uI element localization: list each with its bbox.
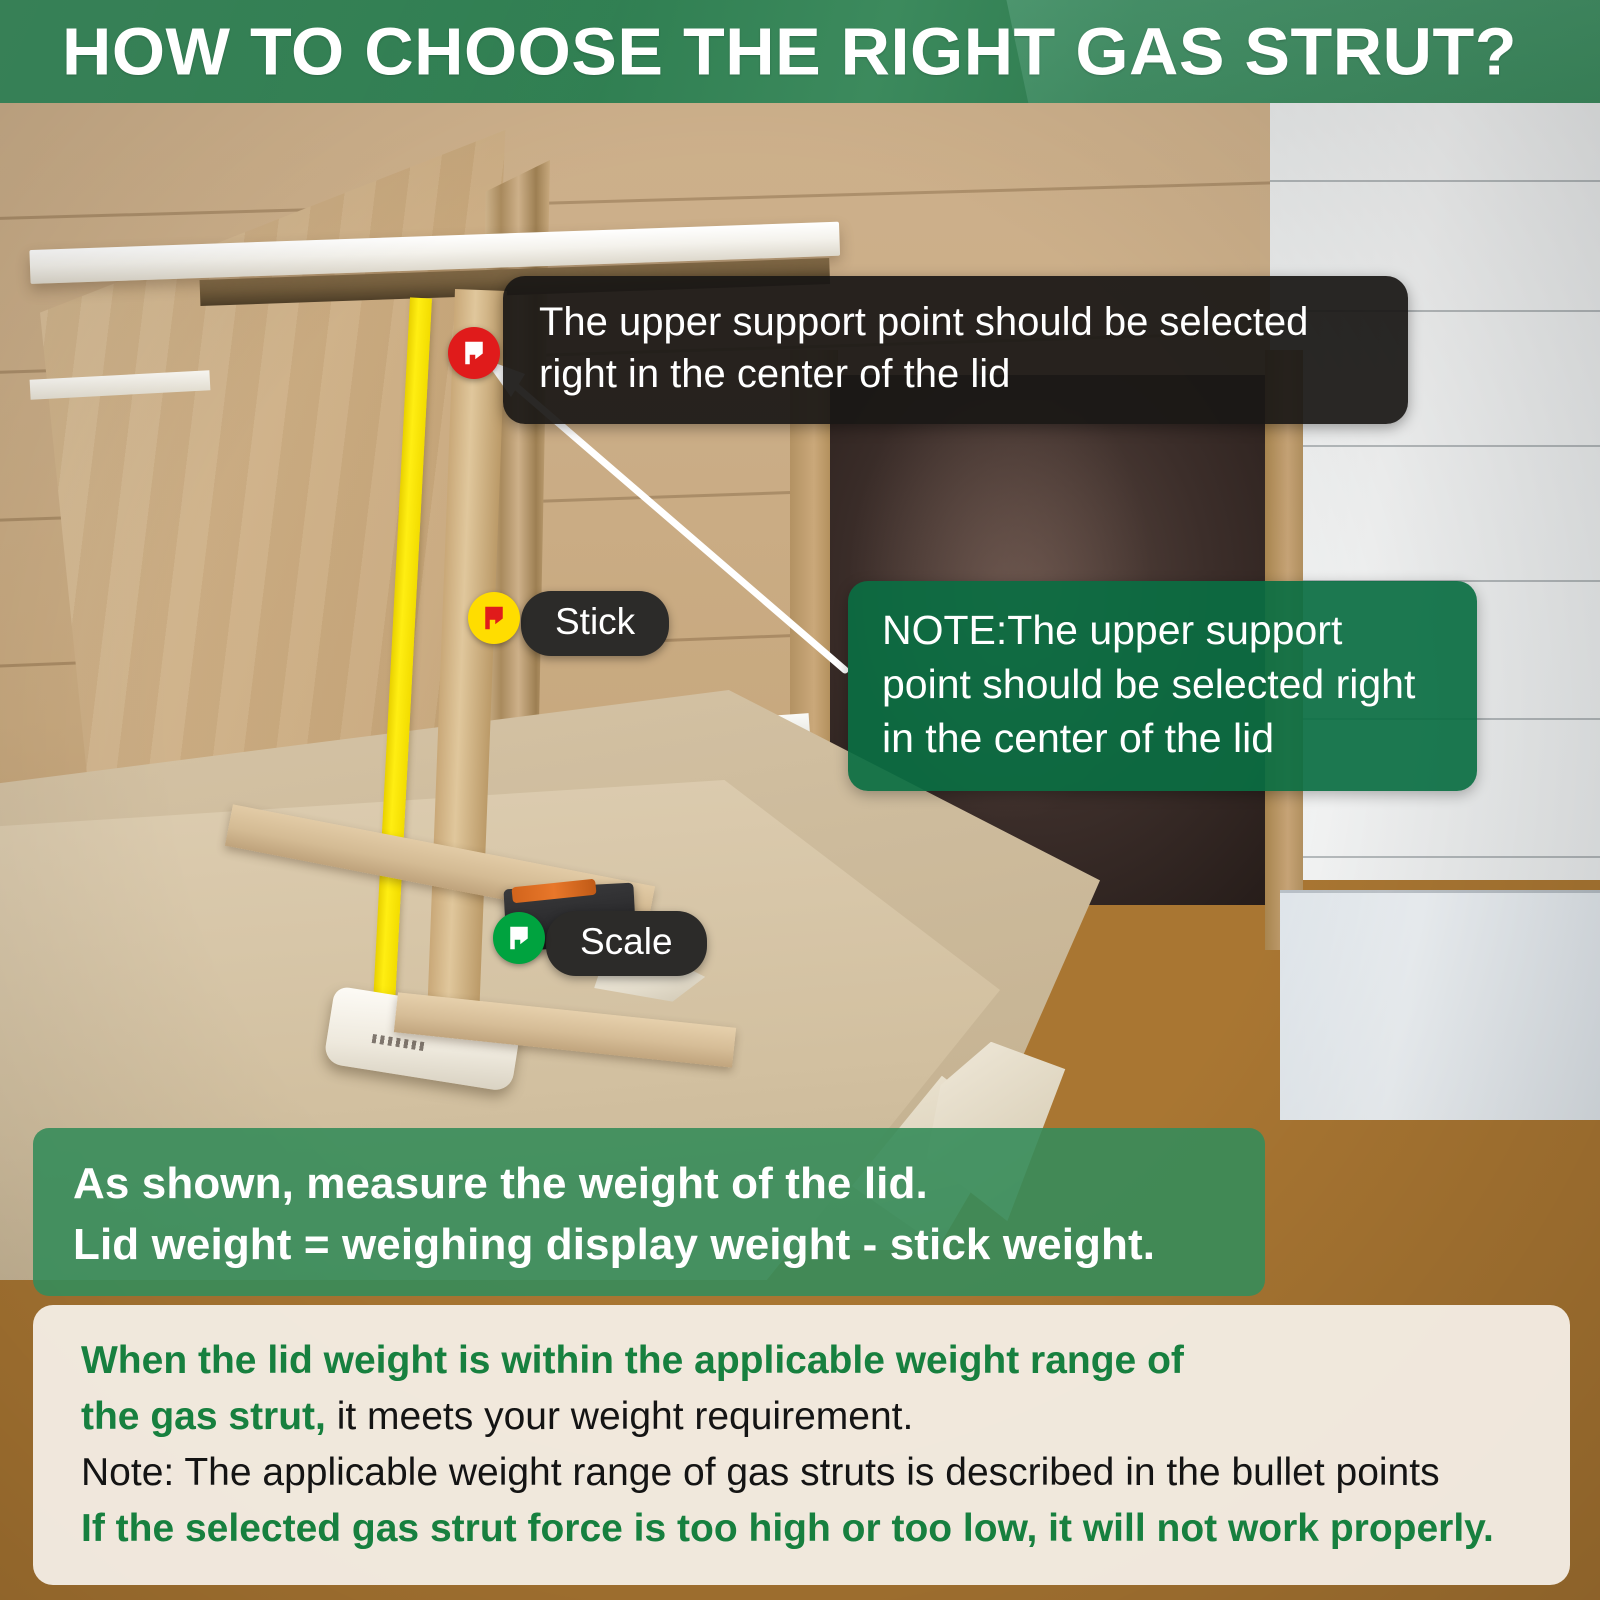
flag-icon bbox=[479, 603, 509, 633]
callout-dark-line2: right in the center of the lid bbox=[539, 348, 1374, 400]
cream-line-4-green: If the selected gas strut force is too h… bbox=[81, 1507, 1494, 1550]
marker-upper-support-point[interactable] bbox=[448, 327, 500, 379]
marker-stick[interactable] bbox=[468, 592, 520, 644]
callout-green-line3: in the center of the lid bbox=[882, 711, 1447, 765]
cream-line-1: When the lid weight is within the applic… bbox=[81, 1333, 1530, 1389]
callout-green-line2: point should be selected right bbox=[882, 657, 1447, 711]
flag-icon bbox=[459, 338, 489, 368]
callout-upper-support-point: The upper support point should be select… bbox=[503, 276, 1408, 424]
measure-instruction-box: As shown, measure the weight of the lid.… bbox=[33, 1128, 1265, 1296]
flag-icon bbox=[504, 923, 534, 953]
marker-scale[interactable] bbox=[493, 912, 545, 964]
header-banner: HOW TO CHOOSE THE RIGHT GAS STRUT? bbox=[0, 0, 1600, 103]
cream-line-3: Note: The applicable weight range of gas… bbox=[81, 1445, 1530, 1501]
cream-line-3-black: Note: The applicable weight range of gas… bbox=[81, 1451, 1440, 1494]
cream-line-1-green: When the lid weight is within the applic… bbox=[81, 1339, 1184, 1382]
label-scale-text: Scale bbox=[580, 921, 673, 962]
green-box-line1: As shown, measure the weight of the lid. bbox=[73, 1154, 1225, 1215]
callout-dark-line1: The upper support point should be select… bbox=[539, 296, 1374, 348]
cream-line-2-green: the gas strut, bbox=[81, 1395, 326, 1438]
cream-line-4: If the selected gas strut force is too h… bbox=[81, 1501, 1530, 1557]
callout-green-line1: NOTE:The upper support bbox=[882, 603, 1447, 657]
label-pill-stick: Stick bbox=[521, 591, 669, 656]
weight-range-note-panel: When the lid weight is within the applic… bbox=[33, 1305, 1570, 1585]
label-pill-scale: Scale bbox=[546, 911, 707, 976]
baseboard-white bbox=[1280, 890, 1600, 1120]
green-box-line2: Lid weight = weighing display weight - s… bbox=[73, 1215, 1225, 1276]
page-title: HOW TO CHOOSE THE RIGHT GAS STRUT? bbox=[62, 13, 1517, 90]
callout-note-green: NOTE:The upper support point should be s… bbox=[848, 581, 1477, 791]
label-stick-text: Stick bbox=[555, 601, 635, 642]
cream-line-2-black: it meets your weight requirement. bbox=[337, 1395, 914, 1438]
infographic-page: Stick Scale The upper support point shou… bbox=[0, 0, 1600, 1600]
cream-line-2: the gas strut, it meets your weight requ… bbox=[81, 1389, 1530, 1445]
